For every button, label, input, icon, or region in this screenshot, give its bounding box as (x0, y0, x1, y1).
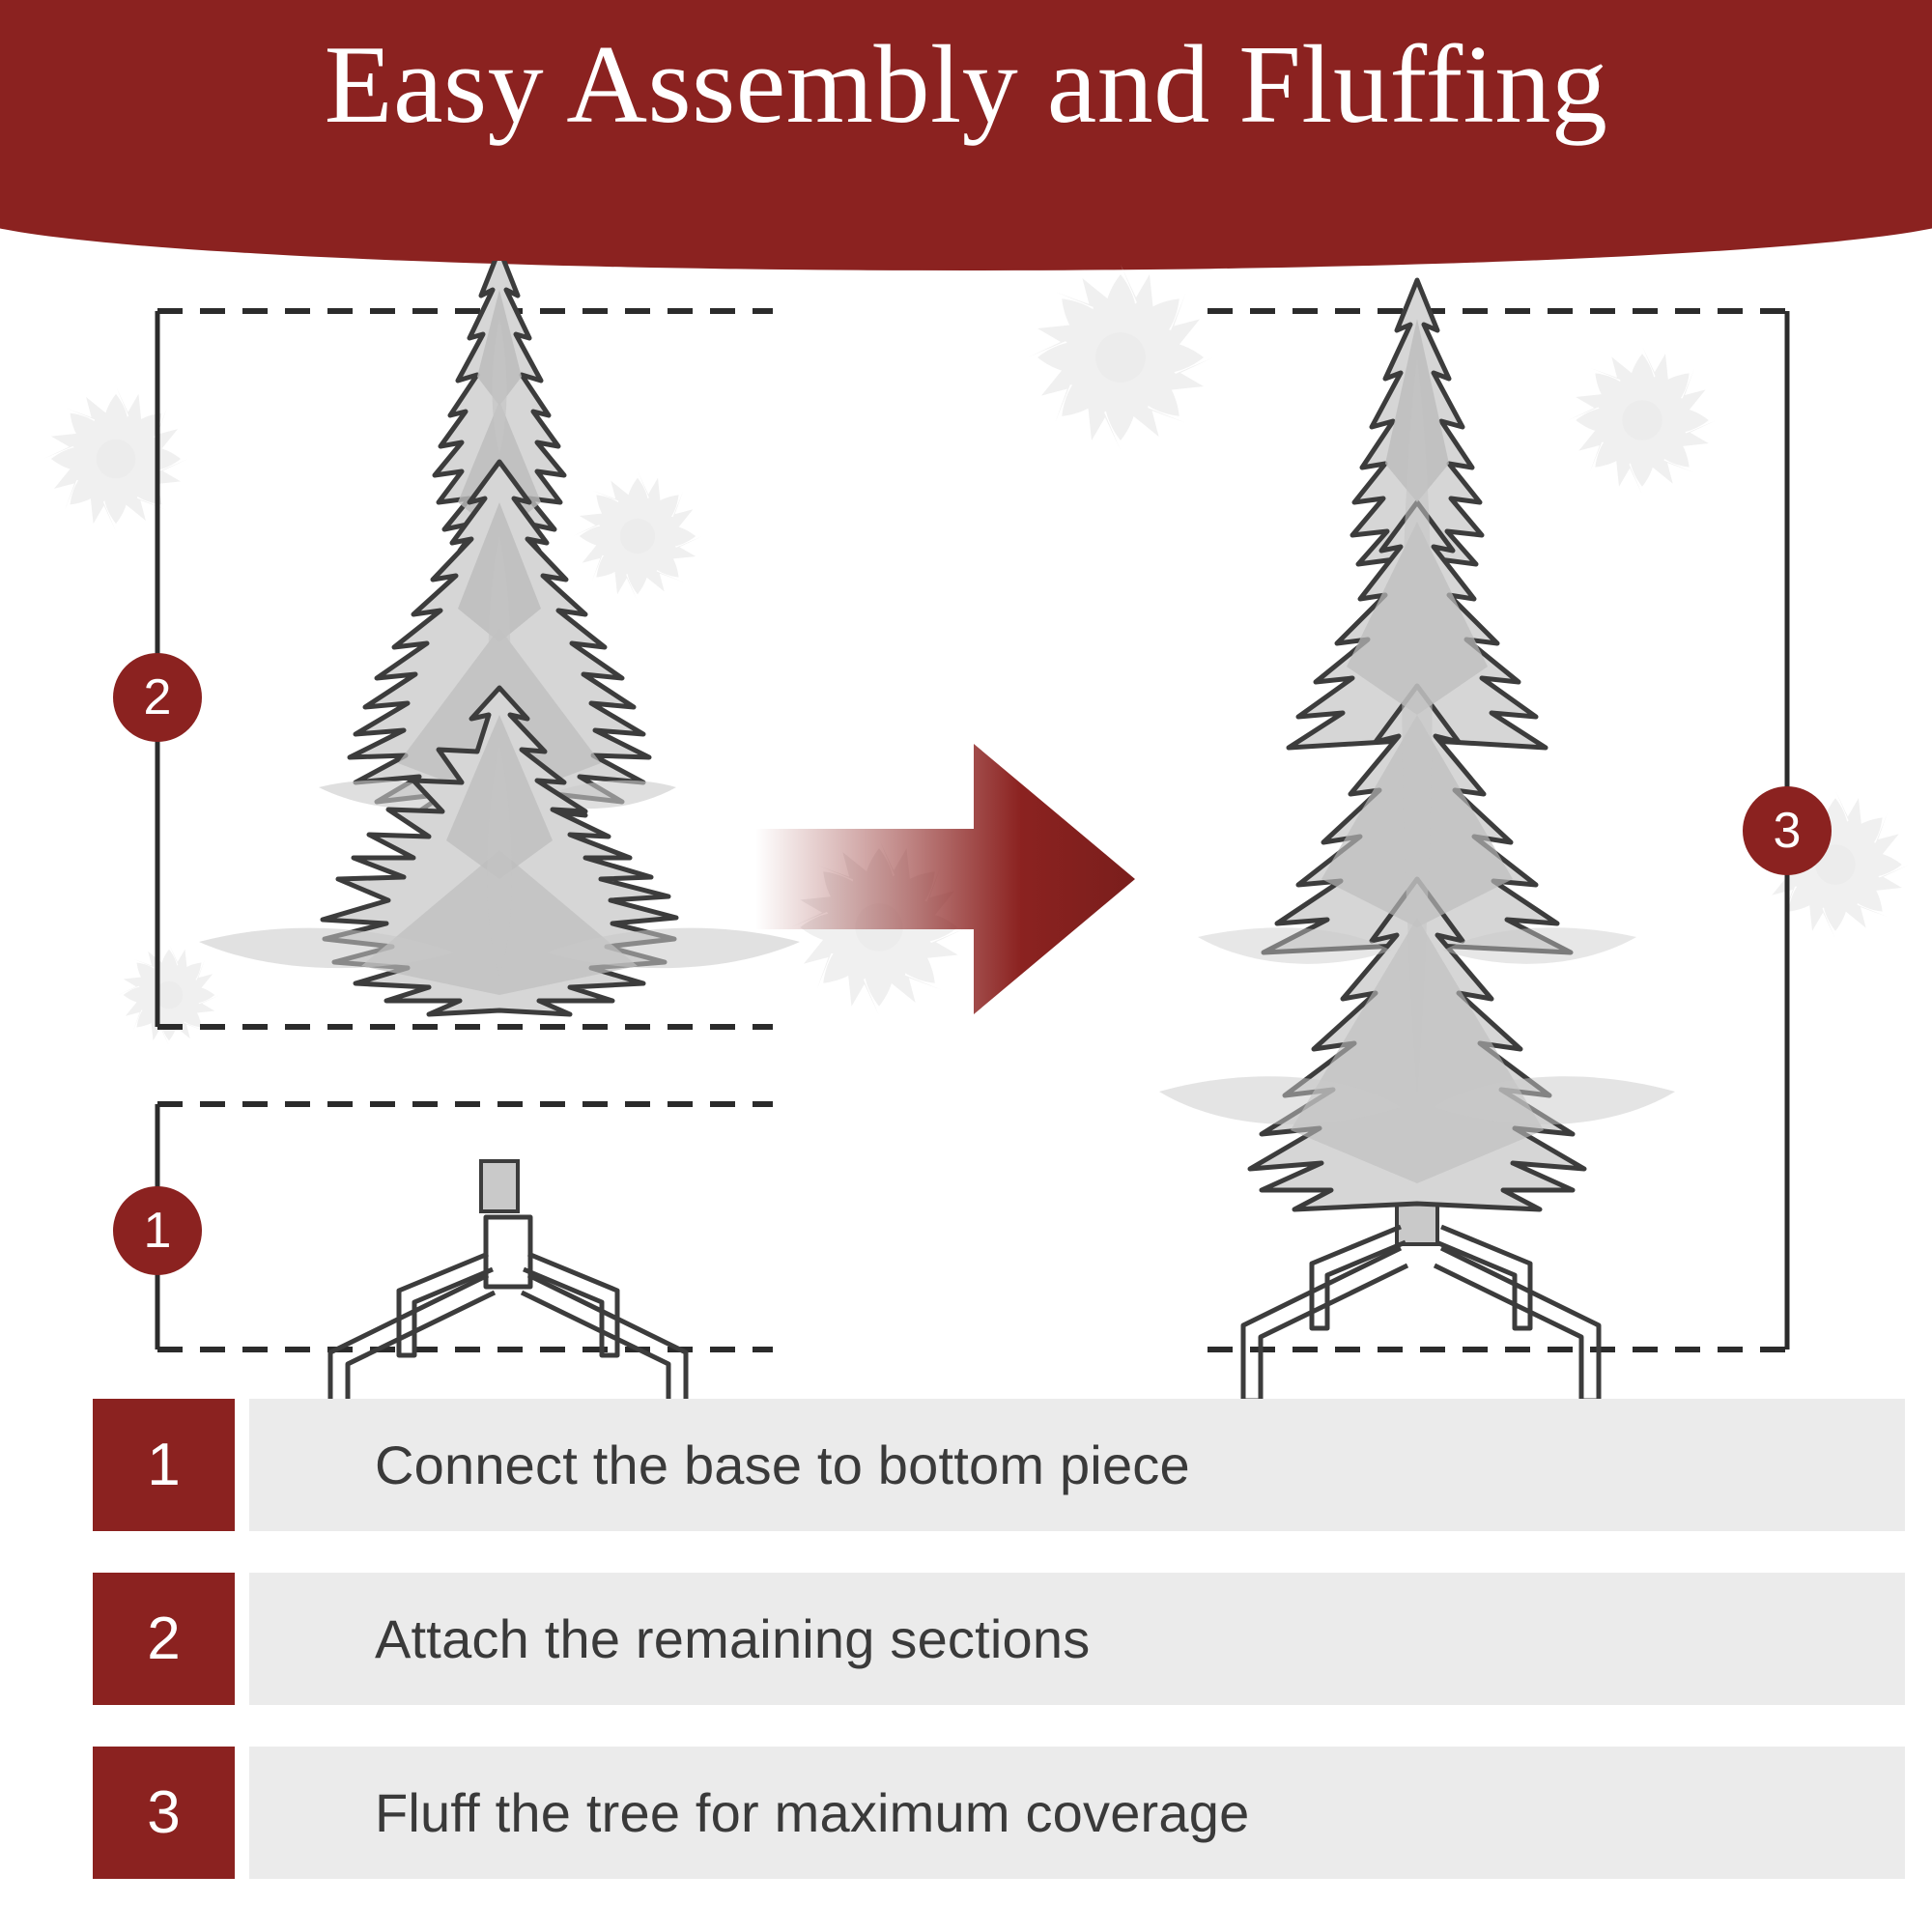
callout-badge-2[interactable]: 2 (113, 653, 202, 742)
step-list: 1 Connect the base to bottom piece 2 Att… (0, 1399, 1932, 1920)
step-bar-2: Attach the remaining sections (249, 1573, 1905, 1705)
step-number-badge-2: 2 (93, 1573, 235, 1705)
step-bar-1: Connect the base to bottom piece (249, 1399, 1905, 1531)
disassembled-tree (199, 261, 800, 1401)
tree-stand-assembled (1243, 1227, 1599, 1401)
callout-badge-1[interactable]: 1 (113, 1186, 202, 1275)
callout-badge-1-label: 1 (144, 1203, 172, 1259)
tree-stand (330, 1217, 686, 1401)
callout-badge-3[interactable]: 3 (1743, 786, 1832, 875)
step-text-2: Attach the remaining sections (249, 1607, 1090, 1670)
step-text-3: Fluff the tree for maximum coverage (249, 1781, 1249, 1844)
step-row-2: 2 Attach the remaining sections (0, 1573, 1932, 1705)
assembled-tree (1159, 280, 1675, 1401)
callout-badge-2-label: 2 (144, 669, 172, 725)
step-row-1: 1 Connect the base to bottom piece (0, 1399, 1932, 1531)
callout-badge-3-label: 3 (1774, 803, 1802, 859)
callout-bracket-1 (157, 1104, 773, 1350)
tree-section-bottom (199, 688, 800, 1211)
step-bar-3: Fluff the tree for maximum coverage (249, 1747, 1905, 1879)
step-number-badge-3: 3 (93, 1747, 235, 1879)
assembly-diagram: 2 1 3 (0, 261, 1932, 1401)
transition-arrow (755, 744, 1135, 1014)
step-text-1: Connect the base to bottom piece (249, 1434, 1190, 1496)
header-banner: Easy Assembly and Fluffing (0, 0, 1932, 270)
page-title: Easy Assembly and Fluffing (0, 29, 1932, 141)
step-row-3: 3 Fluff the tree for maximum coverage (0, 1747, 1932, 1879)
step-number-badge-1: 1 (93, 1399, 235, 1531)
